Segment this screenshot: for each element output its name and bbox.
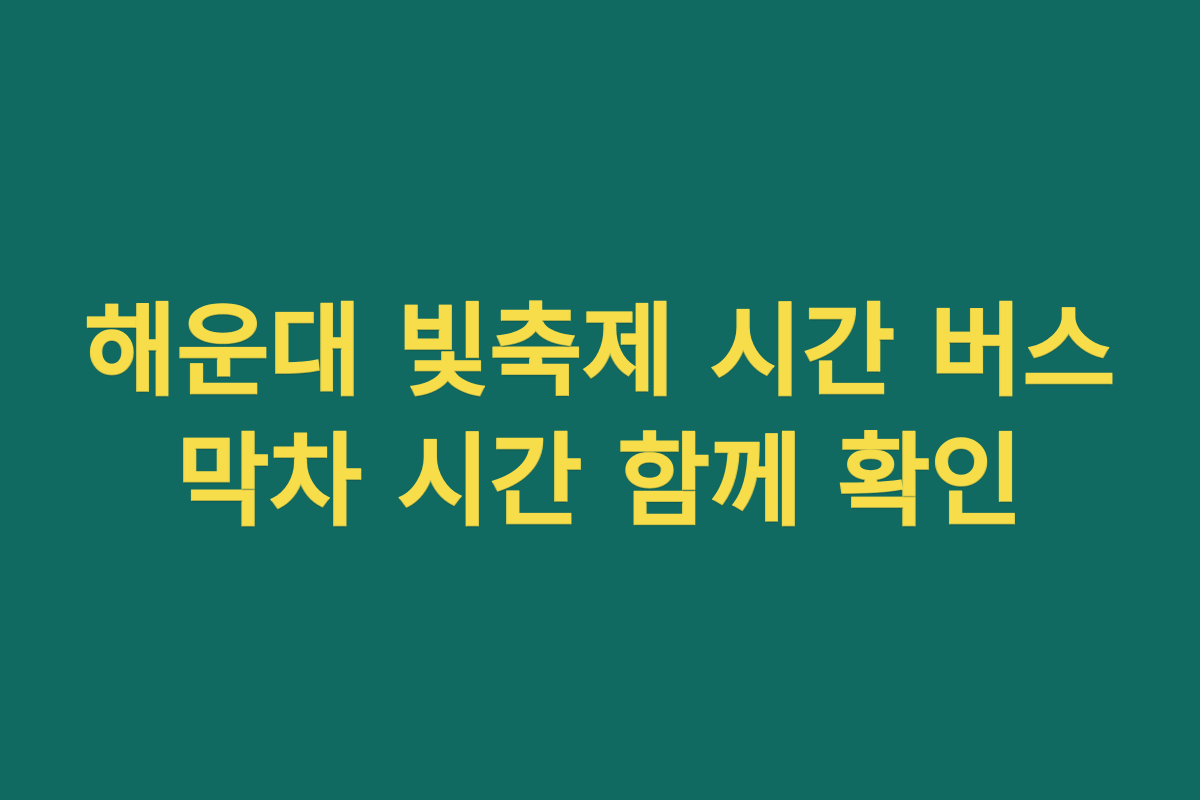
title-line-1: 해운대 빛축제 시간 버스 [85,287,1116,417]
page-title: 해운대 빛축제 시간 버스 막차 시간 함께 확인 [0,287,1200,547]
thumbnail-card: 해운대 빛축제 시간 버스 막차 시간 함께 확인 [0,0,1200,800]
title-line-2: 막차 시간 함께 확인 [177,417,1023,547]
